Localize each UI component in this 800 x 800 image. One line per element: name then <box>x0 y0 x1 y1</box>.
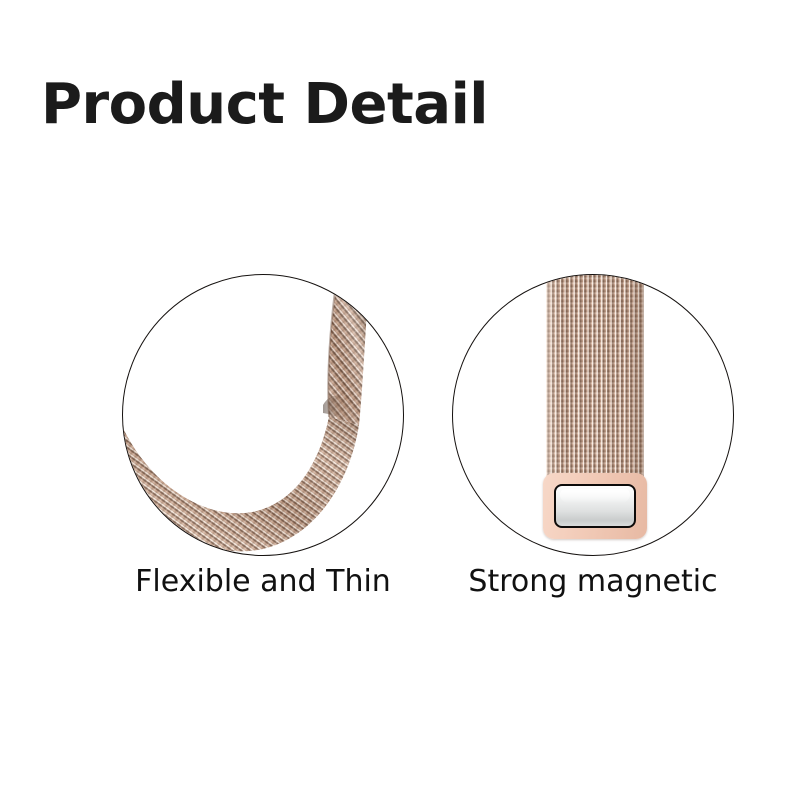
band-photo-magnetic <box>453 275 733 555</box>
feature-gallery: Flexible and Thin Strong magnetic <box>0 268 800 608</box>
feature-caption-flexible: Flexible and Thin <box>93 564 433 599</box>
mesh-band-illustration <box>123 275 403 555</box>
band-stage <box>123 275 403 555</box>
feature-strong-magnetic: Strong magnetic <box>423 268 763 608</box>
clasp-plate-gloss <box>560 489 630 503</box>
page-title: Product Detail <box>41 76 488 135</box>
product-detail-page: Product Detail <box>0 0 800 800</box>
feature-caption-magnetic: Strong magnetic <box>423 564 763 599</box>
feature-image-circle-magnetic <box>452 274 734 556</box>
band-bowl-shading <box>123 415 359 551</box>
band-photo-flexible <box>123 275 403 555</box>
magnetic-clasp-plate <box>554 484 636 528</box>
magnetic-clasp <box>543 473 647 539</box>
mesh-strap-texture <box>546 275 644 489</box>
mesh-strap <box>546 275 644 489</box>
feature-image-circle-flexible <box>122 274 404 556</box>
feature-flexible-thin: Flexible and Thin <box>93 268 433 608</box>
